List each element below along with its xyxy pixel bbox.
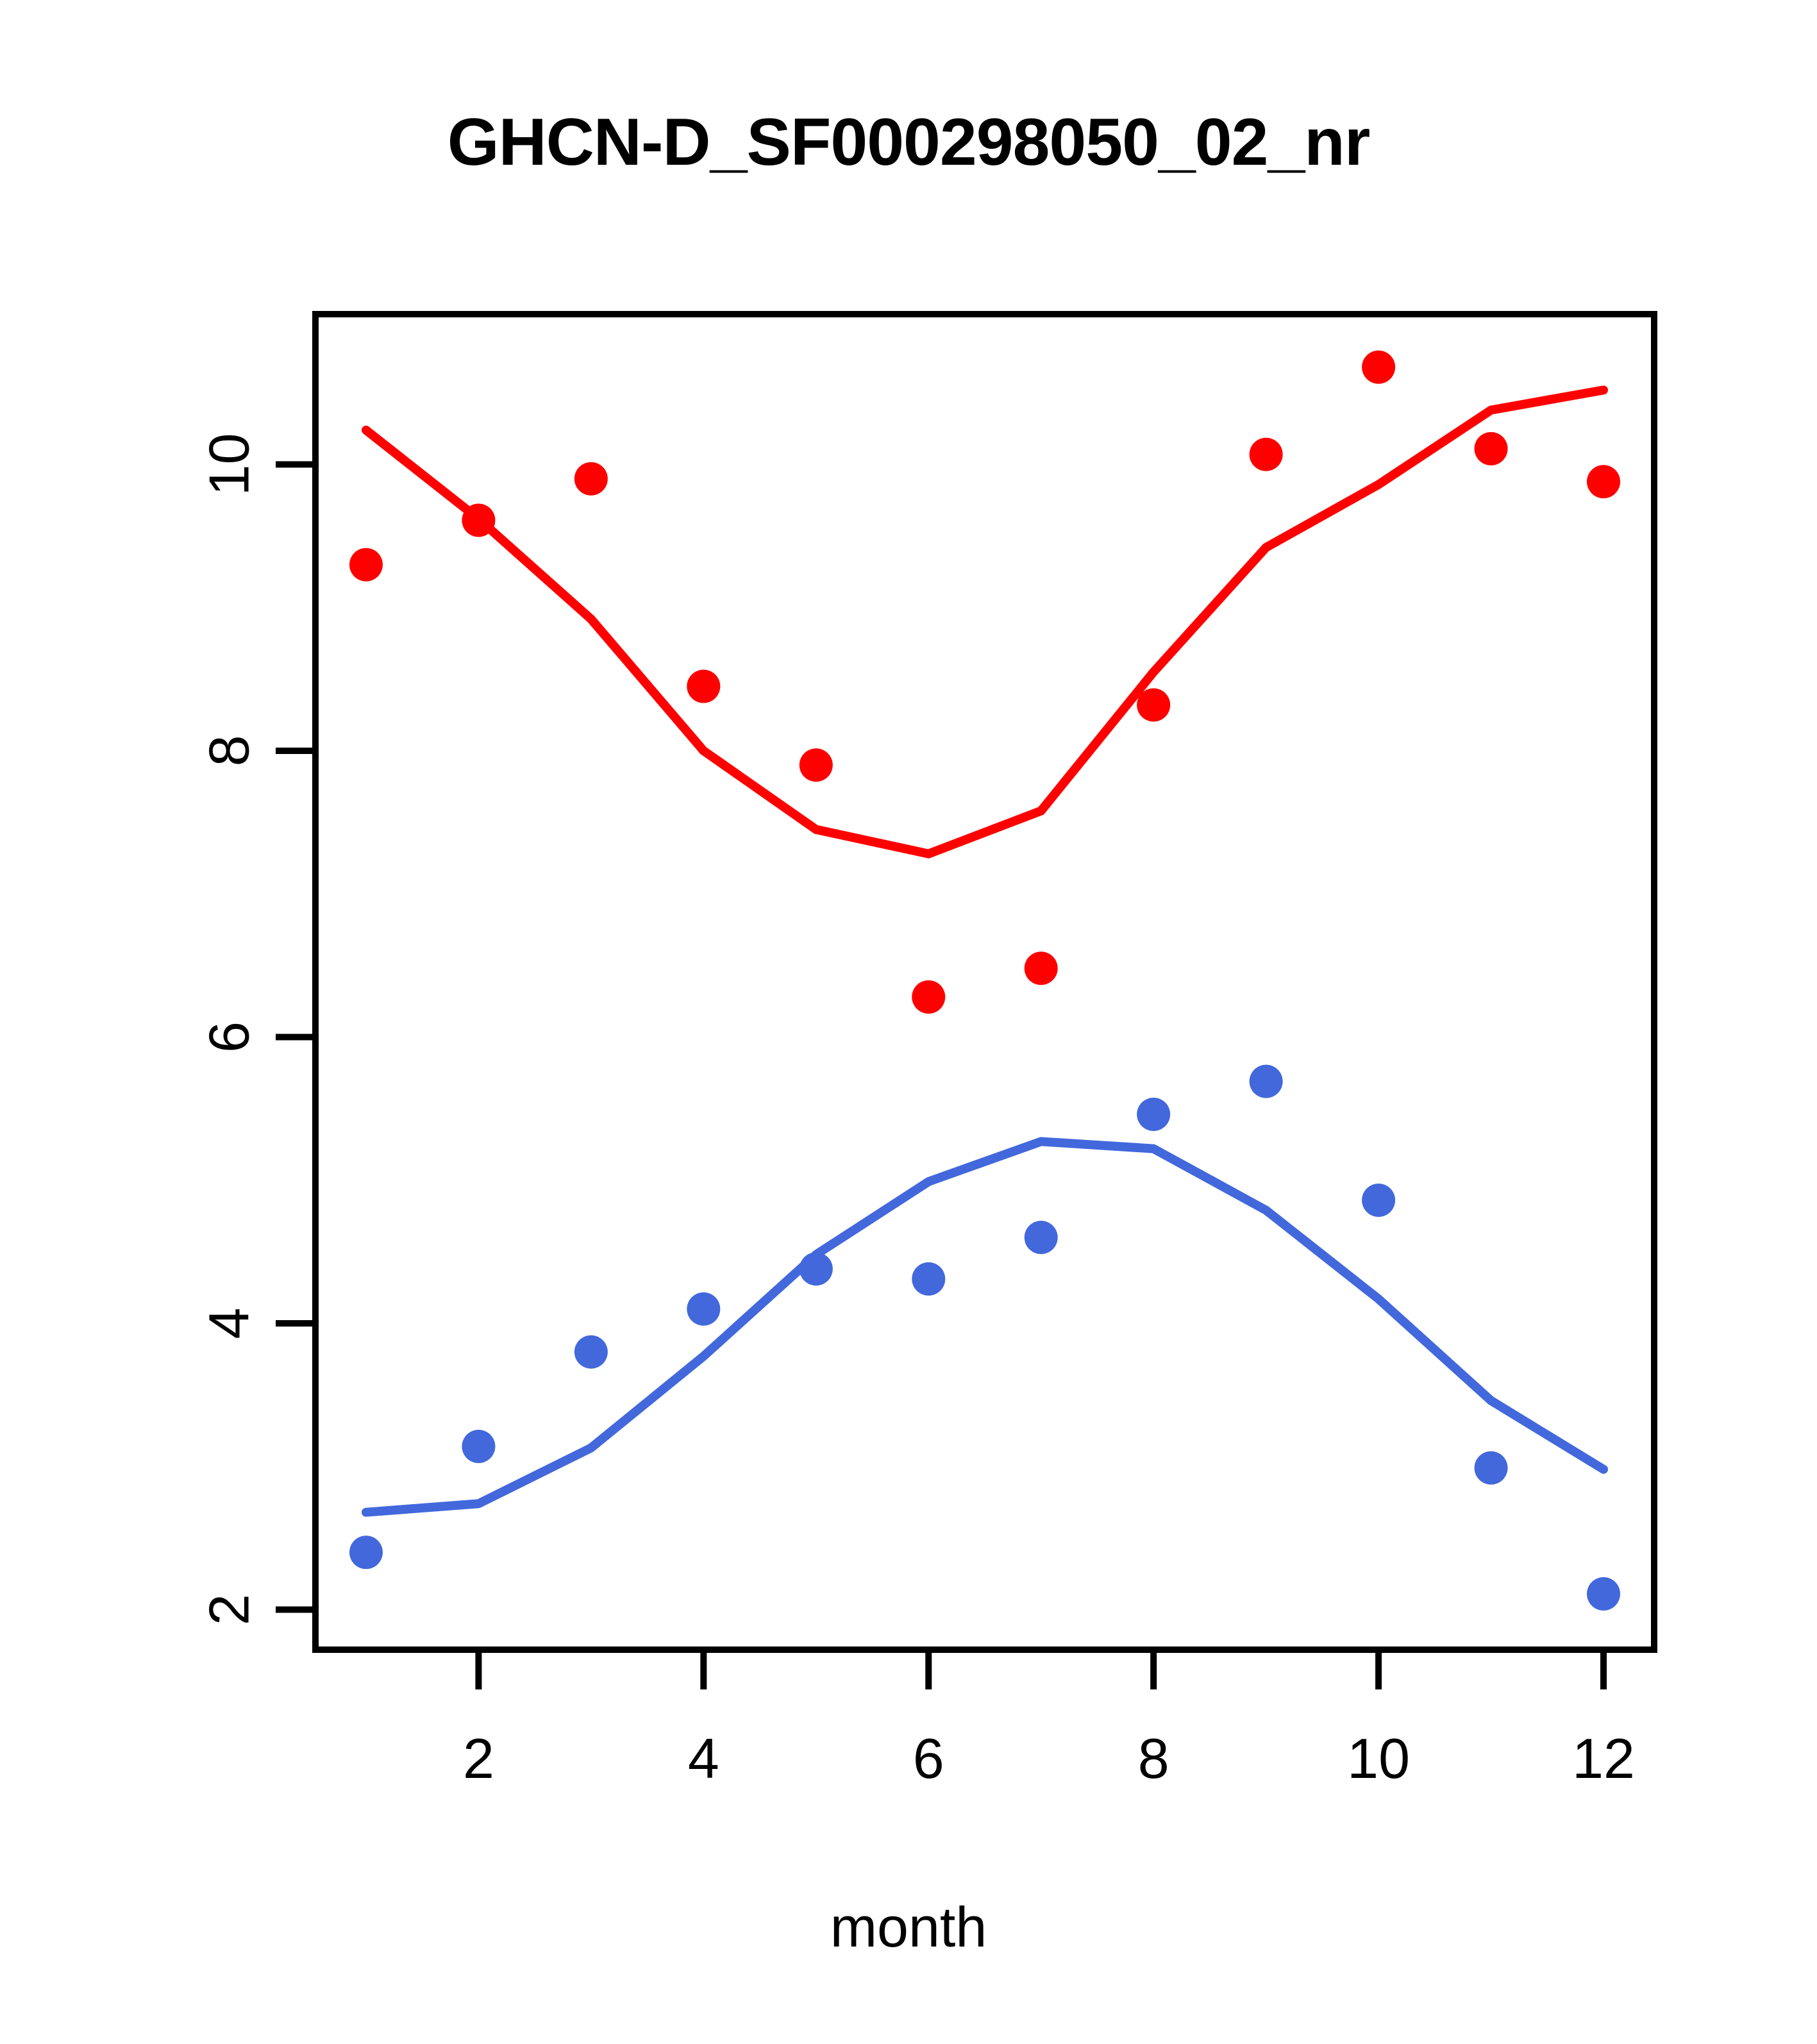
x-axis-tick-label: 2 bbox=[463, 1727, 494, 1790]
data-point bbox=[1250, 1065, 1283, 1098]
series-points bbox=[349, 351, 1620, 1611]
y-axis-tick-label: 8 bbox=[197, 735, 261, 766]
series-lines bbox=[366, 390, 1603, 1512]
x-axis-tick-label: 8 bbox=[1138, 1727, 1169, 1790]
y-axis-tick-label: 4 bbox=[197, 1307, 261, 1339]
plot-border bbox=[315, 314, 1654, 1650]
data-point bbox=[1025, 1221, 1058, 1254]
data-point bbox=[1362, 1184, 1395, 1217]
plot-frame bbox=[315, 314, 1654, 1650]
x-axis-label: month bbox=[0, 1895, 1817, 1960]
data-point bbox=[912, 980, 945, 1014]
data-point bbox=[800, 748, 833, 782]
x-axis-tick-label: 12 bbox=[1572, 1727, 1635, 1790]
data-point bbox=[1025, 951, 1058, 985]
y-axis-tick-label: 2 bbox=[197, 1594, 261, 1625]
data-point bbox=[1587, 1577, 1620, 1611]
series-line-red-line bbox=[366, 390, 1603, 853]
data-point bbox=[1475, 432, 1508, 465]
series-line-blue-line bbox=[366, 1141, 1603, 1512]
y-axis-tick-label: 6 bbox=[197, 1021, 261, 1053]
data-point bbox=[1362, 351, 1395, 384]
data-point bbox=[800, 1252, 833, 1286]
data-point bbox=[687, 1293, 720, 1326]
x-axis-tick-label: 4 bbox=[688, 1727, 719, 1790]
y-axis-tick-label: 10 bbox=[197, 433, 261, 496]
data-point bbox=[462, 1430, 495, 1463]
chart-canvas: 246810 24681012 bbox=[0, 0, 1817, 2044]
data-point bbox=[1137, 1098, 1170, 1131]
data-point bbox=[574, 462, 608, 496]
data-point bbox=[1250, 438, 1283, 471]
data-point bbox=[462, 503, 495, 537]
x-axis-tick-label: 10 bbox=[1347, 1727, 1410, 1790]
x-axis-tick-label: 6 bbox=[913, 1727, 944, 1790]
chart-plot-area: GHCN-D_SF000298050_02_nr 246810 24681012… bbox=[0, 0, 1817, 2044]
data-point bbox=[1587, 465, 1620, 498]
data-point bbox=[912, 1262, 945, 1296]
data-point bbox=[349, 548, 383, 582]
y-axis: 246810 bbox=[197, 433, 316, 1625]
data-point bbox=[1475, 1451, 1508, 1484]
data-point bbox=[349, 1536, 383, 1569]
data-point bbox=[574, 1336, 608, 1369]
data-point bbox=[1137, 689, 1170, 722]
x-axis: 24681012 bbox=[463, 1650, 1635, 1790]
data-point bbox=[687, 669, 720, 703]
